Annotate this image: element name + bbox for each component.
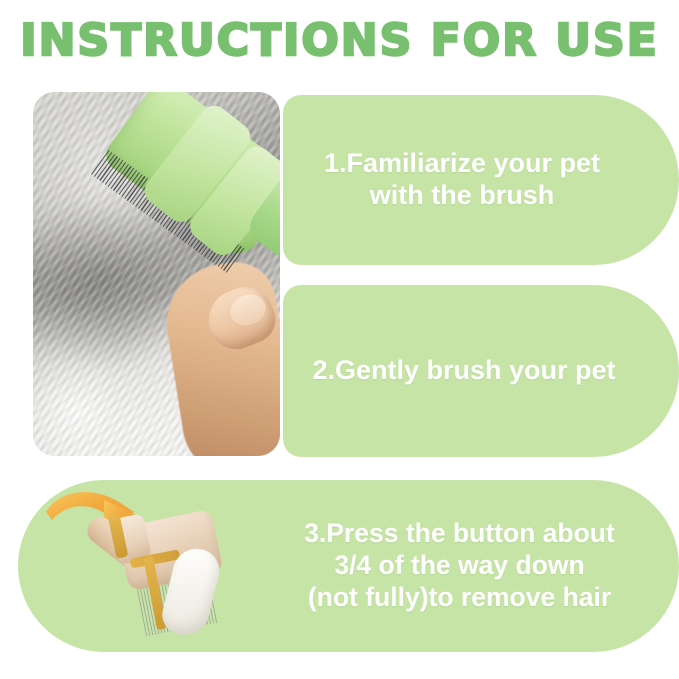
- photo-brush-on-cat-fur: [33, 92, 280, 456]
- step-3-text: 3.Press the button about 3/4 of the way …: [268, 518, 651, 613]
- beige-pet-brush-illustration: [76, 502, 246, 652]
- step-2-text: 2.Gently brush your pet: [289, 355, 639, 387]
- step-1-text: 1.Familiarize your pet with the brush: [289, 148, 635, 212]
- illustration-brush-press-button: [18, 480, 268, 652]
- instructions-page: INSTRUCTIONS FOR USE 1.Familiarize your …: [0, 0, 679, 679]
- step-2-panel: 2.Gently brush your pet: [283, 285, 679, 457]
- page-title: INSTRUCTIONS FOR USE: [0, 16, 679, 66]
- step-1-panel: 1.Familiarize your pet with the brush: [283, 95, 679, 265]
